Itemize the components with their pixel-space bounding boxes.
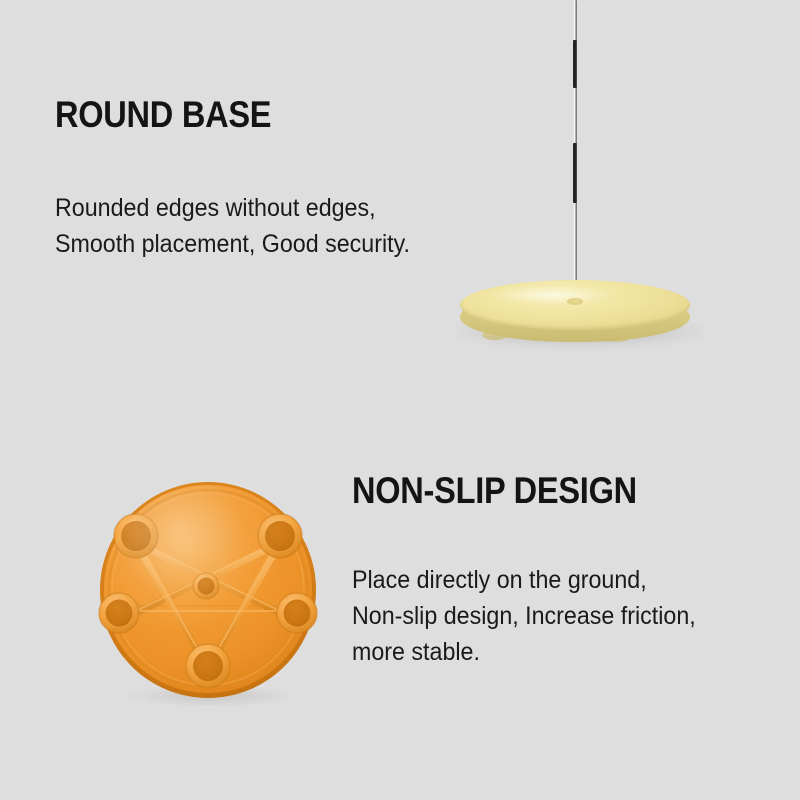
round-base-heading: ROUND BASE <box>55 96 271 134</box>
orange-non-slip-disc-photo <box>88 474 328 706</box>
telescoping-pole-lower-joint <box>573 143 577 203</box>
infographic-canvas: ROUND BASE Rounded edges without edges, … <box>0 0 800 800</box>
non-slip-design-description-line-1: Place directly on the ground, <box>352 562 696 598</box>
round-base-description-line-2: Smooth placement, Good security. <box>55 226 410 262</box>
orange-disc-illustration <box>88 474 328 706</box>
non-slip-design-heading: NON-SLIP DESIGN <box>352 472 637 510</box>
orange-disc-gloss <box>104 485 312 693</box>
non-slip-design-description-line-2: Non-slip design, Increase friction, <box>352 598 696 634</box>
yellow-round-base-photo <box>440 0 720 370</box>
non-slip-design-description: Place directly on the ground, Non-slip d… <box>352 562 696 670</box>
non-slip-design-description-line-3: more stable. <box>352 634 696 670</box>
base-plate-pole-socket <box>567 298 583 305</box>
base-plate-highlight <box>492 286 612 304</box>
round-base-description-line-1: Rounded edges without edges, <box>55 190 410 226</box>
round-base-description: Rounded edges without edges, Smooth plac… <box>55 190 410 262</box>
telescoping-pole-upper-joint <box>573 40 577 88</box>
